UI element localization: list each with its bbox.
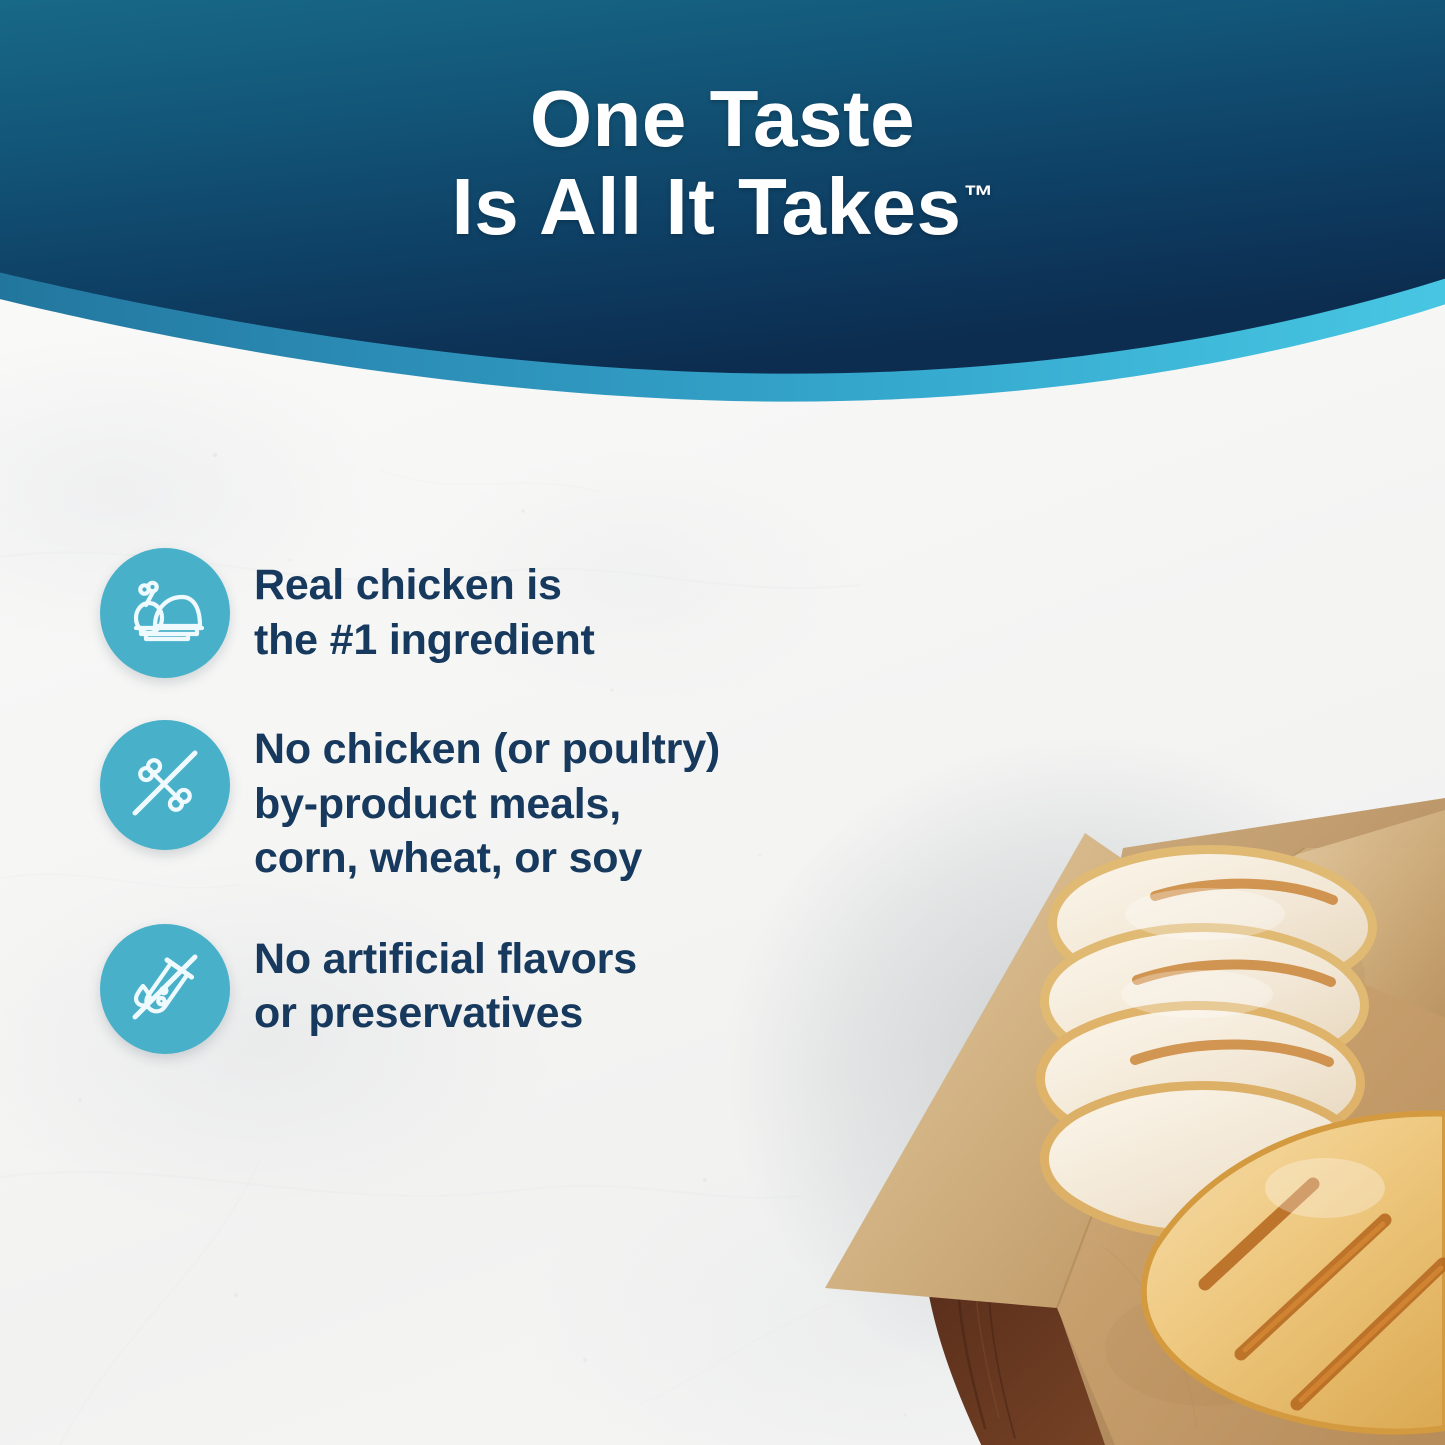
- header-band: One Taste Is All It Takes™: [0, 0, 1445, 420]
- feature-text-real-chicken: Real chicken is the #1 ingredient: [254, 548, 595, 667]
- feature-item-no-artificial: No artificial flavors or preservatives: [100, 924, 860, 1054]
- feature-list: Real chicken is the #1 ingredient: [100, 548, 860, 1054]
- header-shape: [0, 0, 1445, 420]
- no-test-tube-icon: [100, 924, 230, 1054]
- feature-item-real-chicken: Real chicken is the #1 ingredient: [100, 548, 860, 678]
- feature-text-no-artificial: No artificial flavors or preservatives: [254, 924, 637, 1041]
- feature-text-no-byproduct: No chicken (or poultry) by-product meals…: [254, 720, 720, 886]
- roast-chicken-platter-icon: [100, 548, 230, 678]
- product-feature-banner: One Taste Is All It Takes™: [0, 0, 1445, 1445]
- feature-item-no-byproduct: No chicken (or poultry) by-product meals…: [100, 720, 860, 886]
- no-bone-icon: [100, 720, 230, 850]
